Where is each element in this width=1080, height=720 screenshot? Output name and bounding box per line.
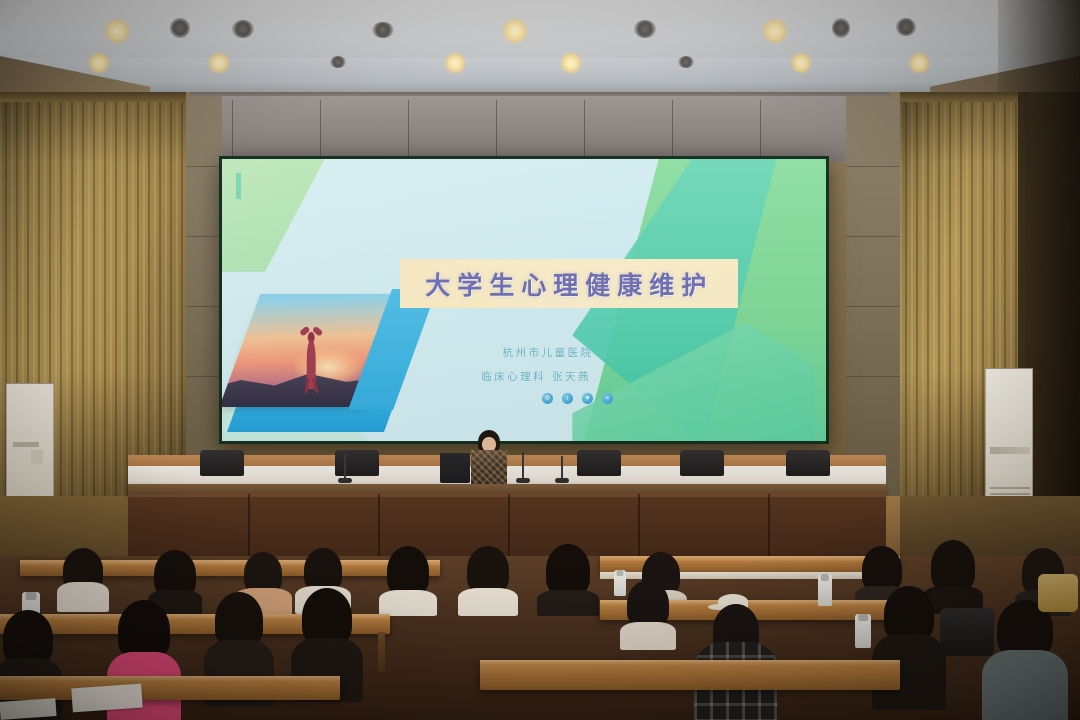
lecture-hall-photo: 大学生心理健康维护 杭州市儿童医院 临床心理科 张天燕 ✲ i ♥ ▪ — [0, 0, 1080, 720]
downlight-icon — [634, 20, 656, 38]
audience-person — [990, 600, 1060, 720]
projection-screen: 大学生心理健康维护 杭州市儿童医院 临床心理科 张天燕 ✲ i ♥ ▪ — [219, 156, 829, 444]
climber-figure-icon — [297, 319, 326, 389]
microphone-base — [555, 478, 569, 483]
podium-chair — [786, 450, 830, 476]
info-icon: i — [562, 393, 573, 404]
microphone — [561, 456, 563, 480]
audience-person — [465, 546, 511, 612]
audience-person-with-cap — [700, 594, 772, 720]
downlight-icon — [444, 52, 466, 74]
microphone-base — [516, 478, 530, 483]
ceiling — [0, 0, 1080, 96]
downlight-icon — [560, 52, 582, 74]
downlight-icon — [170, 18, 190, 38]
slide-subtitle-presenter: 临床心理科 张天燕 — [403, 369, 669, 384]
water-bottle — [818, 574, 832, 606]
wall-right-of-screen — [846, 96, 908, 516]
bench-leg — [378, 632, 385, 672]
curtain-rod — [0, 92, 186, 102]
bench-row-near — [0, 676, 340, 700]
slide-subtitle-organization: 杭州市儿童医院 — [427, 345, 669, 360]
wall-panel-row — [190, 96, 890, 162]
downlight-icon — [88, 52, 110, 74]
presenter-person — [469, 430, 509, 486]
downlight-icon — [790, 52, 812, 74]
audience-person — [385, 546, 431, 612]
downlight-icon — [104, 18, 130, 44]
downlight-icon — [678, 56, 694, 68]
slide-accent-tick — [236, 173, 241, 199]
downlight-icon — [372, 22, 394, 38]
audience-person — [625, 580, 671, 646]
podium-chair — [200, 450, 244, 476]
downlight-icon — [208, 52, 230, 74]
downlight-icon — [330, 56, 346, 68]
presentation-slide: 大学生心理健康维护 杭州市儿童医院 临床心理科 张天燕 ✲ i ♥ ▪ — [222, 159, 826, 441]
microphone — [344, 454, 346, 480]
bench-row-near — [480, 660, 900, 690]
heart-icon: ♥ — [582, 393, 593, 404]
backpack — [940, 608, 994, 656]
slide-social-icons: ✲ i ♥ ▪ — [542, 393, 613, 404]
laptop — [440, 453, 470, 483]
downlight-icon — [762, 18, 788, 44]
downlight-icon — [832, 18, 850, 38]
share-icon: ✲ — [542, 393, 553, 404]
audience-person — [545, 544, 591, 612]
audience-person — [60, 548, 106, 610]
microphone — [522, 452, 524, 480]
downlight-icon — [896, 18, 916, 36]
water-bottle — [855, 614, 871, 648]
slide-title: 大学生心理健康维护 — [406, 262, 732, 306]
downlight-icon — [232, 20, 254, 38]
downlight-icon — [908, 52, 930, 74]
microphone-base — [338, 478, 352, 483]
handbag — [1038, 574, 1078, 612]
podium-chair — [577, 450, 621, 476]
podium-chair — [680, 450, 724, 476]
curtain-rod — [900, 92, 1028, 102]
ceiling-shadow — [998, 0, 1080, 96]
podium-chair — [335, 450, 379, 476]
comment-icon: ▪ — [602, 393, 613, 404]
downlight-icon — [502, 18, 528, 44]
handout-paper — [71, 684, 143, 713]
